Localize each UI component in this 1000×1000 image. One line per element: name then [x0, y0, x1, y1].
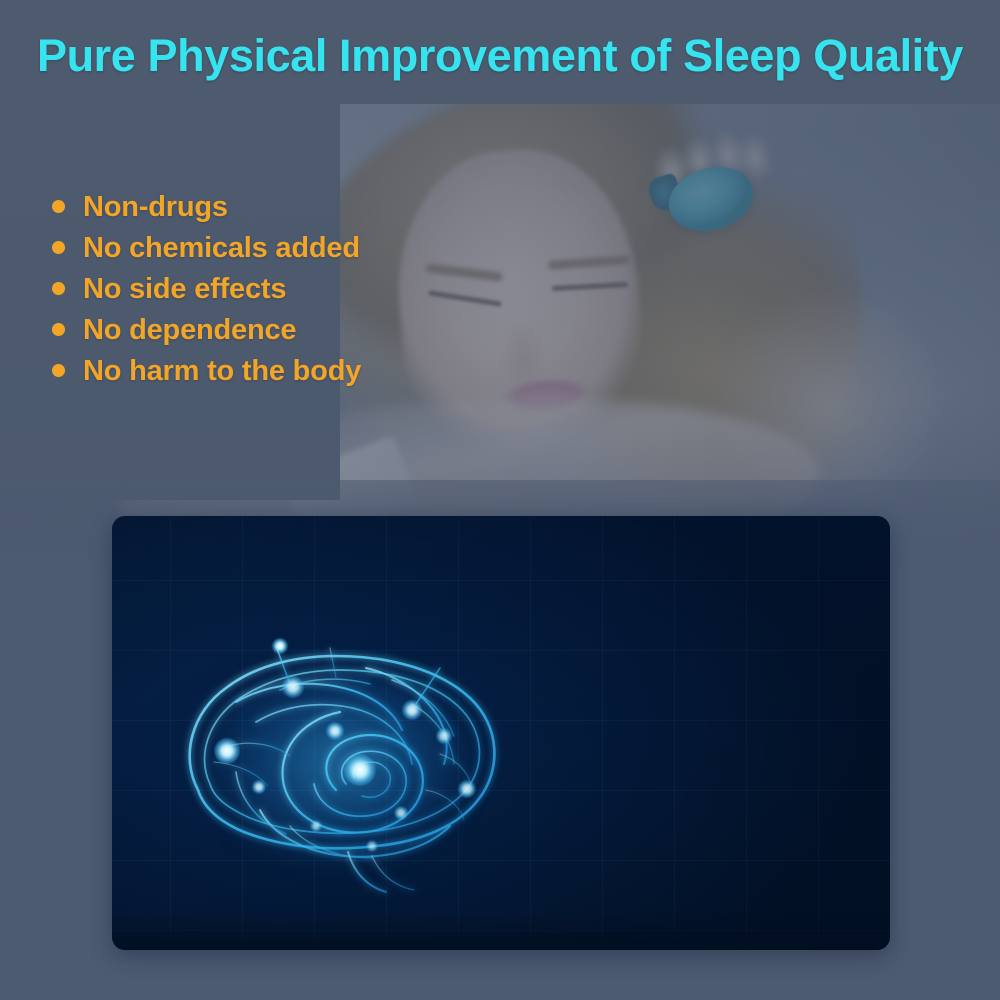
bullet-dot-icon: [52, 282, 65, 295]
benefit-label: No chemicals added: [83, 231, 360, 265]
panel-bottom-fade: [112, 910, 890, 950]
bullet-dot-icon: [52, 364, 65, 377]
benefits-list: Non-drugs No chemicals added No side eff…: [52, 186, 361, 391]
neuron-spark: [214, 738, 240, 764]
neuron-spark: [436, 728, 452, 744]
brain-wireframe-icon: [140, 594, 540, 914]
tech-panel: [112, 516, 890, 950]
neuron-spark: [282, 676, 304, 698]
neuron-spark: [394, 806, 408, 820]
neuron-spark: [252, 780, 266, 794]
bullet-dot-icon: [52, 323, 65, 336]
neuron-spark: [458, 780, 476, 798]
bullet-dot-icon: [52, 200, 65, 213]
neuron-spark: [310, 820, 322, 832]
page-title: Pure Physical Improvement of Sleep Quali…: [0, 30, 1000, 82]
benefit-label: No harm to the body: [83, 354, 361, 388]
neuron-spark: [326, 722, 344, 740]
list-item: No harm to the body: [52, 350, 361, 391]
list-item: No side effects: [52, 268, 361, 309]
benefit-label: No side effects: [83, 272, 286, 306]
neuron-spark: [344, 754, 376, 786]
list-item: No chemicals added: [52, 227, 361, 268]
list-item: Non-drugs: [52, 186, 361, 227]
neuron-spark: [272, 638, 288, 654]
list-item: No dependence: [52, 309, 361, 350]
bullet-dot-icon: [52, 241, 65, 254]
benefit-label: No dependence: [83, 313, 296, 347]
neuron-spark: [366, 840, 378, 852]
product-infographic: Pure Physical Improvement of Sleep Quali…: [0, 0, 1000, 1000]
footer-band: [0, 964, 1000, 1000]
brain-visual: [140, 594, 540, 914]
neuron-spark: [402, 700, 422, 720]
benefit-label: Non-drugs: [83, 190, 228, 224]
